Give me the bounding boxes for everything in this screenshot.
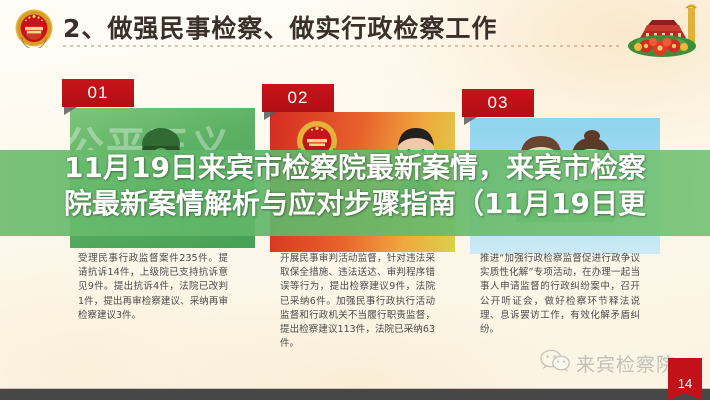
procuratorate-emblem-icon [14,8,54,48]
wechat-account-name: 来宾检察院 [576,350,676,377]
body-text-column-2: 开展民事审判活动监督，针对违法采取保全措施、违法送达、审判程序错误等行为，提出检… [280,252,435,351]
header-divider [63,45,623,47]
wechat-watermark: 来宾检察院 [540,349,676,378]
tiananmen-flowers-icon [616,0,708,62]
wechat-logo-icon [540,349,570,378]
page-title: 2、做强民事检察、做实行政检察工作 [63,9,497,45]
slide-screenshot: 2、做强民事检察、做实行政检察工作 [0,0,710,400]
section-badge-02: 02 [262,84,334,112]
bottom-bar [0,389,710,400]
overlay-title: 11月19日来宾市检察院最新案情，来宾市检察 院最新案情解析与应对步骤指南（11… [0,150,710,222]
overlay-title-line-1: 11月19日来宾市检察院最新案情，来宾市检察 [0,150,710,186]
body-text-column-1: 受理民事行政监督案件235件。提请抗诉14件，上级院已支持抗诉意见9件。提出抗诉… [78,252,228,323]
body-text-column-3: 推进“加强行政检察监督促进行政争议实质性化解”专项活动，在办理一起当事人申请监督… [480,252,640,337]
section-badge-03: 03 [462,89,534,117]
overlay-title-line-2: 院最新案情解析与应对步骤指南（11月19日更 [0,186,710,222]
page-number: 14 [678,376,692,391]
slide-header: 2、做强民事检察、做实行政检察工作 [0,0,710,58]
section-badge-01: 01 [62,79,134,107]
